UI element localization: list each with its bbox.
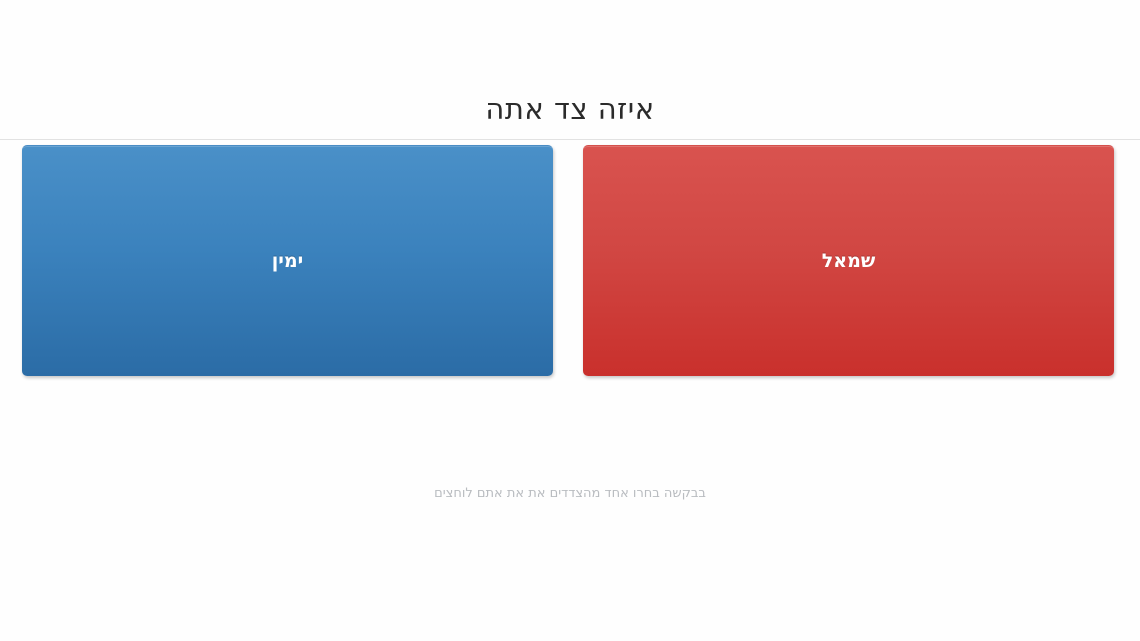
poll-option-right-label: ימין xyxy=(272,250,303,272)
footer-hint-text: בבקשה בחרו אחד מהצדדים את את אתם לוחצים xyxy=(434,485,706,503)
poll-options-row: שמאל ימין xyxy=(22,145,1114,376)
page-title: איזה צד אתה xyxy=(485,91,654,127)
poll-option-left-button[interactable]: שמאל xyxy=(583,145,1114,376)
poll-option-right-button[interactable]: ימין xyxy=(22,145,553,376)
poll-option-left-label: שמאל xyxy=(822,250,875,272)
poll-page: איזה צד אתה שמאל ימין בבקשה בחרו אחד מהצ… xyxy=(0,0,1140,641)
header-divider xyxy=(0,139,1140,140)
footer-hint-area: בבקשה בחרו אחד מהצדדים את את אתם לוחצים xyxy=(0,482,1140,503)
page-title-area: איזה צד אתה xyxy=(0,72,1140,147)
